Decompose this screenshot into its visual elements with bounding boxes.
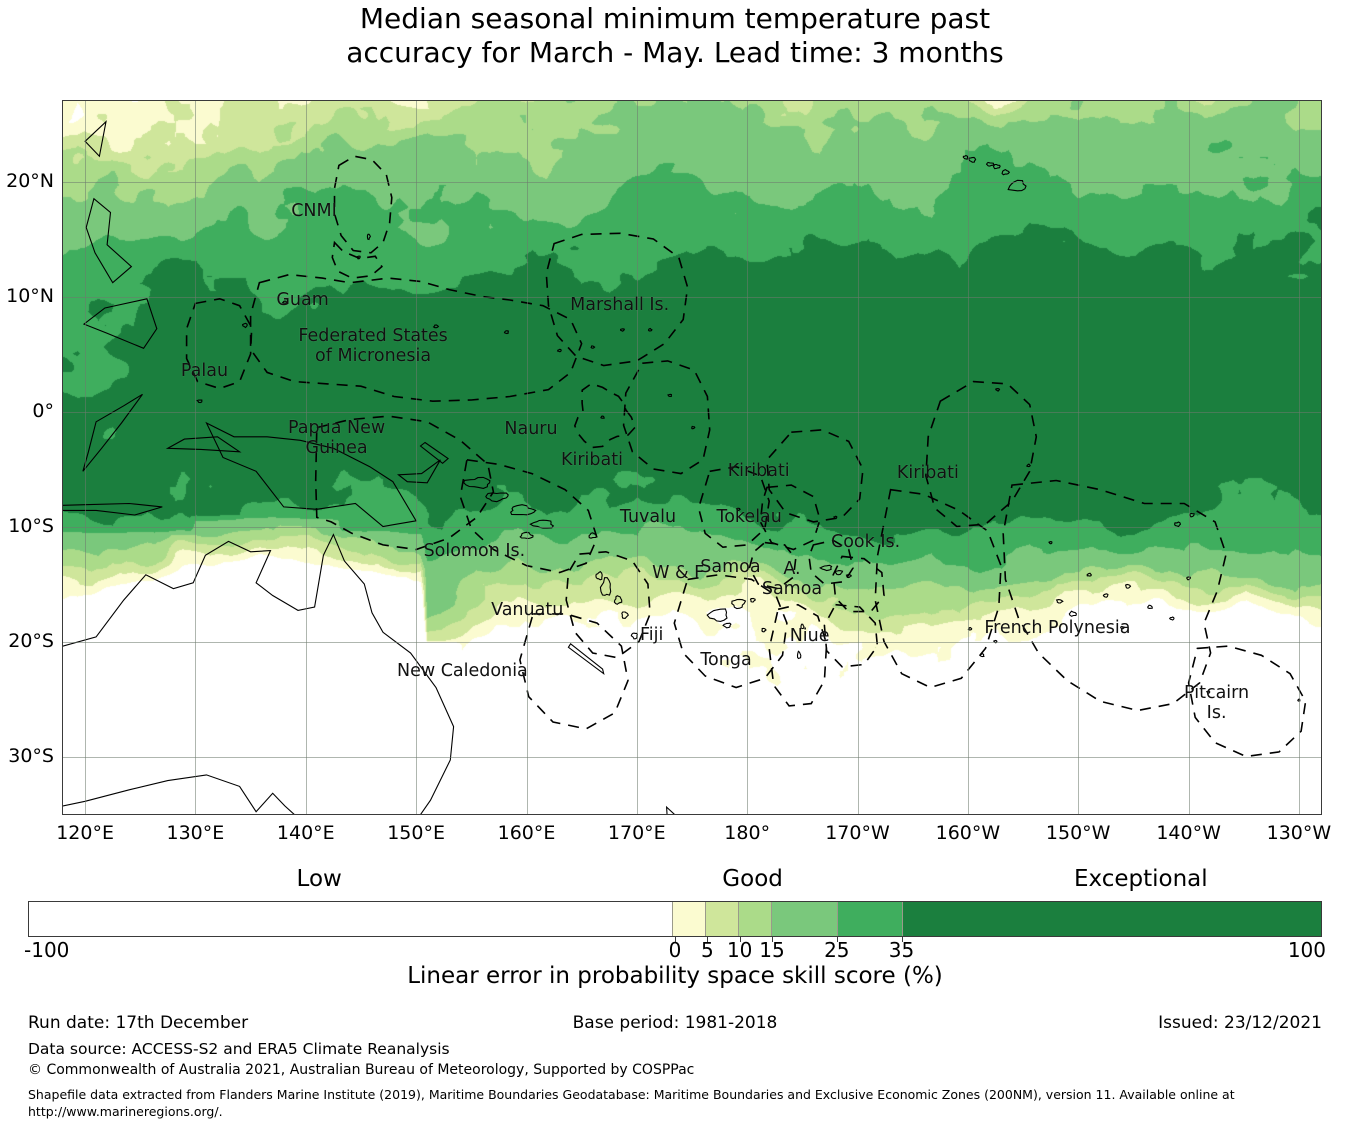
- footer-primary-row: Run date: 17th December Base period: 198…: [0, 1013, 1350, 1037]
- map-label-line: Vanuatu: [491, 600, 563, 620]
- map-label-kiribati-phoenix: Kiribati: [728, 461, 790, 481]
- colorbar-tick-mark: [740, 937, 741, 942]
- coastline: [85, 122, 106, 157]
- coastline: [83, 394, 143, 471]
- coastline: [596, 572, 602, 580]
- map-label-tokelau: Tokelau: [716, 507, 781, 527]
- y-tick-label: 10°S: [8, 515, 54, 537]
- gridline-parallel: [63, 412, 1321, 413]
- map-label-line: Solomon Is.: [424, 541, 526, 561]
- y-tick-label: 10°N: [6, 285, 54, 307]
- map-label-line: W & F: [652, 563, 704, 583]
- colorbar-tick-mark: [707, 937, 708, 942]
- colorbar-tick-mark: [837, 937, 838, 942]
- x-tick-label: 140°W: [1156, 822, 1221, 844]
- map-label-line: Marshall Is.: [570, 295, 669, 315]
- coastline: [762, 628, 766, 631]
- coastline: [692, 426, 695, 428]
- title-line-1: Median seasonal minimum temperature past: [0, 2, 1350, 36]
- eez-boundary: [875, 490, 1001, 688]
- map-container[interactable]: [62, 100, 1322, 815]
- map-label-a-samoa: A.Samoa: [762, 559, 822, 599]
- colorbar-segment: [739, 902, 772, 936]
- y-tick-label: 0°: [32, 400, 54, 422]
- shapefile-note: Shapefile data extracted from Flanders M…: [28, 1086, 1318, 1120]
- x-tick-label: 130°E: [167, 822, 225, 844]
- gridline-parallel: [63, 297, 1321, 298]
- coastline: [511, 505, 536, 515]
- coastline: [707, 609, 727, 622]
- coastline: [987, 163, 994, 167]
- x-tick-label: 170°E: [608, 822, 666, 844]
- map-label-federated-states-of-micronesia: Federated Statesof Micronesia: [298, 326, 447, 366]
- map-label-marshall-is: Marshall Is.: [570, 295, 669, 315]
- coastline: [367, 234, 370, 239]
- map-label-vanuatu: Vanuatu: [491, 600, 563, 620]
- map-label-line: Guinea: [288, 438, 385, 458]
- coastline: [1148, 605, 1153, 608]
- colorbar-category-exceptional: Exceptional: [1074, 866, 1208, 892]
- coastline: [622, 612, 629, 618]
- eez-boundary: [332, 243, 382, 279]
- coastline: [732, 599, 746, 608]
- colorbar-segment: [903, 902, 1321, 936]
- eez-boundary: [824, 605, 877, 667]
- gridline-meridian: [1078, 101, 1079, 814]
- coastline: [197, 400, 202, 403]
- coastline: [1087, 573, 1091, 576]
- map-label-line: Tuvalu: [620, 507, 676, 527]
- coastline: [1069, 611, 1076, 616]
- map-label-niue: Niue: [790, 626, 830, 646]
- coastline: [996, 389, 1000, 392]
- map-label-papua-new-guinea: Papua NewGuinea: [288, 418, 385, 458]
- map-label-line: Samoa: [762, 579, 822, 599]
- gridline-meridian: [1299, 101, 1300, 814]
- coastline: [614, 596, 621, 604]
- coastline: [969, 158, 976, 163]
- coastline: [649, 329, 652, 331]
- map-label-palau: Palau: [181, 361, 228, 381]
- coastline: [1126, 585, 1131, 589]
- coastline: [558, 349, 562, 352]
- y-tick-label: 30°S: [8, 745, 54, 767]
- gridline-parallel: [63, 527, 1321, 528]
- run-date: Run date: 17th December: [28, 1013, 248, 1033]
- coastline: [1049, 542, 1052, 544]
- map-label-line: Papua New: [288, 418, 385, 438]
- map-plot-area[interactable]: [62, 100, 1322, 815]
- colorbar-category-good: Good: [722, 866, 783, 892]
- coastline: [723, 623, 731, 628]
- map-label-line: Tonga: [700, 650, 751, 670]
- colorbar-tick-mark: [902, 937, 903, 942]
- coastline: [1190, 514, 1194, 517]
- gridline-meridian: [416, 101, 417, 814]
- gridline-meridian: [968, 101, 969, 814]
- coastline: [968, 628, 971, 630]
- colorbar-tick-label: -100: [24, 938, 69, 962]
- coastline: [63, 504, 162, 516]
- gridline-meridian: [195, 101, 196, 814]
- map-label-line: Guam: [276, 290, 328, 310]
- gridline-meridian: [637, 101, 638, 814]
- map-label-french-polynesia: French Polynesia: [984, 618, 1130, 638]
- colorbar-segment: [706, 902, 739, 936]
- gridline-meridian: [85, 101, 86, 814]
- coastline: [486, 493, 508, 502]
- colorbar-category-low: Low: [297, 866, 342, 892]
- colorbar-tick-label: 100: [1288, 938, 1326, 962]
- x-tick-label: 130°W: [1267, 822, 1332, 844]
- colorbar-segment: [838, 902, 903, 936]
- x-tick-label: 170°W: [825, 822, 890, 844]
- coastline: [464, 477, 490, 488]
- coastline: [600, 578, 610, 596]
- map-label-line: Niue: [790, 626, 830, 646]
- y-tick-label: 20°S: [8, 630, 54, 652]
- coastline: [1027, 464, 1030, 467]
- coastline: [751, 598, 756, 602]
- gridline-meridian: [527, 101, 528, 814]
- x-tick-label: 150°W: [1046, 822, 1111, 844]
- coastline: [601, 416, 604, 418]
- colorbar[interactable]: [28, 901, 1322, 937]
- coastline: [1170, 617, 1174, 620]
- data-source-note: Data source: ACCESS-S2 and ERA5 Climate …: [28, 1040, 450, 1058]
- map-label-line: Tokelau: [716, 507, 781, 527]
- map-label-tuvalu: Tuvalu: [620, 507, 676, 527]
- issued-date: Issued: 23/12/2021: [1158, 1013, 1322, 1033]
- coastline: [1057, 600, 1063, 603]
- coastline: [668, 394, 671, 396]
- coastline: [1103, 594, 1108, 597]
- map-label-kiribati-gilbert: Kiribati: [561, 450, 623, 470]
- coastline: [84, 299, 157, 349]
- y-tick-label: 20°N: [6, 170, 54, 192]
- map-label-line: CNMI: [291, 201, 337, 221]
- base-period: Base period: 1981-2018: [573, 1013, 778, 1033]
- coastline: [1002, 170, 1009, 175]
- title-line-2: accuracy for March - May. Lead time: 3 m…: [0, 36, 1350, 70]
- coastline: [399, 460, 441, 483]
- coastline: [798, 651, 801, 658]
- map-label-cnmi: CNMI: [291, 201, 337, 221]
- coastline: [168, 437, 240, 452]
- coastline: [505, 331, 509, 334]
- coastline: [63, 535, 454, 814]
- colorbar-axis-label: Linear error in probability space skill …: [0, 963, 1350, 989]
- map-label-guam: Guam: [276, 290, 328, 310]
- map-label-line: Kiribati: [897, 463, 959, 483]
- colorbar-category-labels: LowGoodExceptional: [0, 866, 1350, 896]
- coastline: [621, 329, 625, 331]
- coastline: [667, 807, 731, 814]
- coastline: [86, 199, 131, 283]
- x-tick-label: 160°E: [498, 822, 556, 844]
- x-tick-label: 180°: [724, 822, 770, 844]
- colorbar-tick-mark: [772, 937, 773, 942]
- colorbar-segment: [673, 902, 706, 936]
- map-label-line: Federated States: [298, 326, 447, 346]
- map-label-line: French Polynesia: [984, 618, 1130, 638]
- colorbar-tick-mark: [675, 937, 676, 942]
- map-label-fiji: Fiji: [640, 625, 663, 645]
- map-label-line: Palau: [181, 361, 228, 381]
- map-label-new-caledonia: New Caledonia: [397, 661, 528, 681]
- coastline: [994, 165, 1001, 169]
- coastline: [591, 346, 595, 348]
- map-label-line: Kiribati: [561, 450, 623, 470]
- map-label-line: Cook Is.: [831, 532, 900, 552]
- map-label-line: of Micronesia: [298, 346, 447, 366]
- map-label-cook-is: Cook Is.: [831, 532, 900, 552]
- map-label-kiribati-line: Kiribati: [897, 463, 959, 483]
- eez-boundary: [1003, 481, 1226, 711]
- eez-boundary: [926, 382, 1036, 527]
- gridline-meridian: [858, 101, 859, 814]
- colorbar-segment: [772, 902, 837, 936]
- eez-boundary: [335, 156, 392, 253]
- map-label-line: Pitcairn: [1184, 683, 1249, 703]
- map-label-line: A.: [762, 559, 822, 579]
- copyright-note: © Commonwealth of Australia 2021, Austra…: [28, 1062, 694, 1078]
- x-tick-label: 150°E: [387, 822, 445, 844]
- colorbar-segment: [29, 902, 673, 936]
- gridline-parallel: [63, 757, 1321, 758]
- map-label-pitcairn-is: PitcairnIs.: [1184, 683, 1249, 723]
- map-label-line: Kiribati: [728, 461, 790, 481]
- map-label-nauru: Nauru: [504, 419, 557, 439]
- coastline: [835, 571, 842, 575]
- gridline-parallel: [63, 182, 1321, 183]
- map-vector-overlay: [63, 101, 1321, 814]
- coastline: [568, 644, 603, 674]
- map-label-line: New Caledonia: [397, 661, 528, 681]
- x-tick-label: 140°E: [277, 822, 335, 844]
- x-tick-label: 160°W: [936, 822, 1001, 844]
- map-label-line: Fiji: [640, 625, 663, 645]
- map-label-line: Nauru: [504, 419, 557, 439]
- map-label-w-f: W & F: [652, 563, 704, 583]
- gridline-parallel: [63, 642, 1321, 643]
- coastline: [243, 323, 248, 327]
- coastline: [421, 443, 449, 464]
- x-tick-label: 120°E: [56, 822, 114, 844]
- map-label-line: Is.: [1184, 703, 1249, 723]
- map-label-solomon-is: Solomon Is.: [424, 541, 526, 561]
- map-label-tonga: Tonga: [700, 650, 751, 670]
- gridline-meridian: [747, 101, 748, 814]
- map-label-line: Samoa: [700, 557, 760, 577]
- page-title: Median seasonal minimum temperature past…: [0, 2, 1350, 70]
- map-label-samoa: Samoa: [700, 557, 760, 577]
- eez-boundary: [520, 614, 628, 729]
